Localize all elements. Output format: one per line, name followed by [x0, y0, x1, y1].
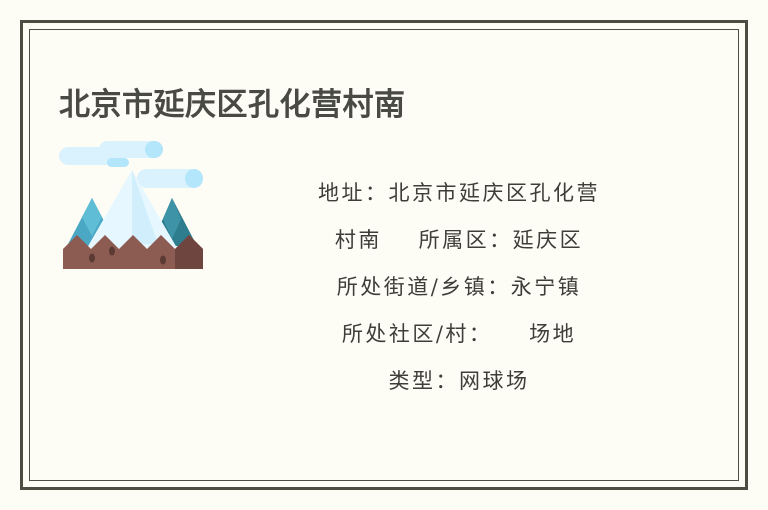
- detail-line-address: 地址：北京市延庆区孔化营: [216, 170, 702, 217]
- detail-line-community-village: 所处社区/村： 场地: [216, 311, 702, 358]
- detail-line-address-continued-district: 村南 所属区：延庆区: [216, 217, 702, 264]
- detail-line-type: 类型：网球场: [216, 358, 702, 405]
- mountain-landscape-placeholder-icon: [59, 141, 209, 291]
- card-frame: 北京市延庆区孔化营村南: [20, 20, 748, 490]
- card-inner-frame: 北京市延庆区孔化营村南: [29, 29, 739, 481]
- page-title: 北京市延庆区孔化营村南: [59, 87, 406, 123]
- detail-line-street-town: 所处街道/乡镇：永宁镇: [216, 264, 702, 311]
- detail-list: 地址：北京市延庆区孔化营 村南 所属区：延庆区 所处街道/乡镇：永宁镇 所处社区…: [216, 170, 702, 405]
